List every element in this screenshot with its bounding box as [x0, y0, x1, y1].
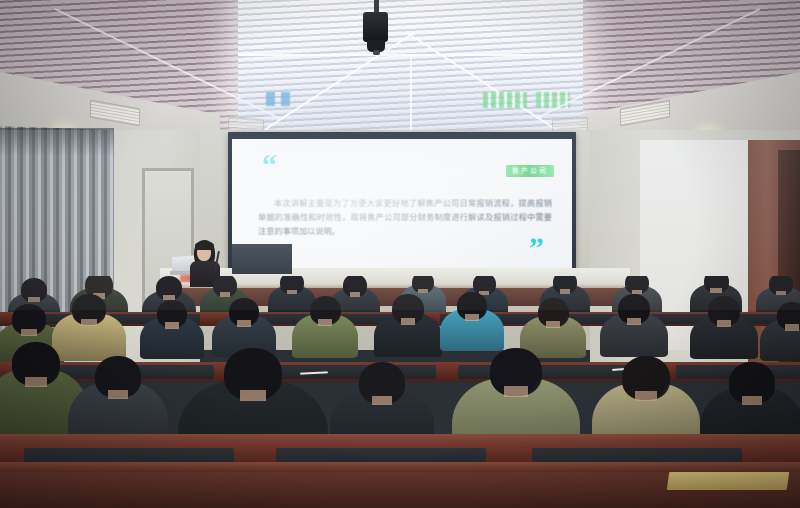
slide-title-tag: 焦产公司 [506, 165, 554, 177]
audience-area [0, 276, 800, 508]
desk-folder [667, 472, 790, 490]
attendee-neck [318, 319, 332, 325]
desk-front-edge [0, 462, 800, 472]
reflection-green [483, 92, 527, 108]
attendee-neck [465, 314, 479, 320]
slide-body-text: 本次讲解主要是为了方便大家更好地了解焦产公司日常报销流程，提高报销单据的准确性和… [258, 197, 552, 239]
reflection-blue [281, 92, 290, 106]
presenter-fringe [195, 241, 214, 250]
attendee-neck [108, 390, 129, 399]
attendee-neck [418, 289, 428, 294]
attendee [374, 294, 442, 368]
attendee-neck [240, 390, 266, 401]
attendee-neck [287, 290, 298, 295]
attendee [690, 296, 758, 370]
quote-open-icon: “ [262, 151, 279, 181]
attendee-neck [401, 318, 415, 325]
attendee-neck [776, 291, 787, 296]
attendee-neck [504, 386, 527, 397]
attendee-neck [710, 288, 721, 293]
quote-close-icon: ” [529, 234, 546, 264]
attendee-neck [785, 324, 799, 330]
attendee-neck [28, 297, 40, 302]
reflection-blue [266, 92, 275, 106]
reflection-green [536, 92, 570, 108]
ceiling-grid-line [410, 54, 412, 134]
attendee-neck [372, 396, 393, 405]
curtain-shadow [0, 128, 114, 156]
attendee-neck [25, 377, 47, 387]
attendee-neck [635, 391, 657, 401]
attendee-neck [546, 321, 560, 327]
attendee-neck [717, 320, 731, 327]
attendee-neck [237, 320, 251, 326]
projector-icon [363, 12, 388, 42]
conference-room-photo: “ 焦产公司 本次讲解主要是为了方便大家更好地了解焦产公司日常报销流程，提高报销… [0, 0, 800, 508]
attendee-neck [21, 329, 36, 336]
attendee-neck [165, 322, 179, 328]
attendee-neck [560, 289, 571, 294]
attendee-neck [627, 318, 641, 325]
projector-lens [373, 50, 380, 55]
monitor-panel [232, 244, 292, 274]
attendee-neck [81, 319, 96, 326]
attendee-neck [742, 396, 763, 405]
attendee-neck [220, 292, 231, 297]
ceiling-light-panel [238, 0, 583, 131]
